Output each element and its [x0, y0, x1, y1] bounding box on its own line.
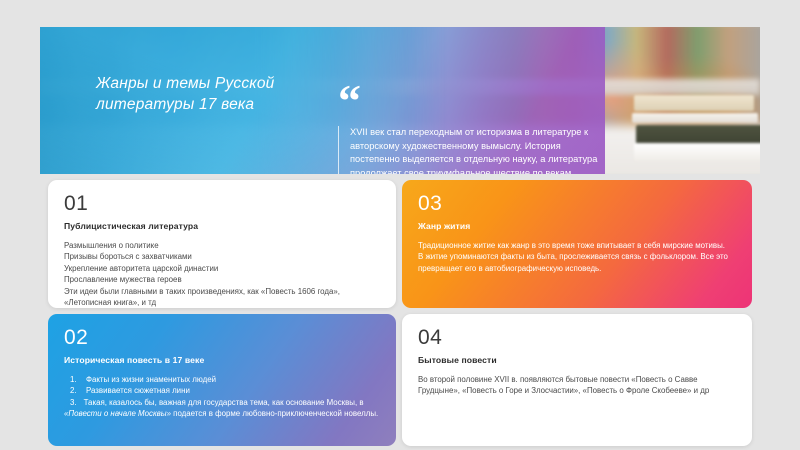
card-body-text: Традиционное житие как жанр в это время … — [418, 240, 736, 274]
content-card-02[interactable]: 02 Историческая повесть в 17 веке Факты … — [48, 314, 396, 446]
stacked-books-photo — [632, 87, 760, 157]
content-card-03[interactable]: 03 Жанр жития Традиционное житие как жан… — [402, 180, 752, 308]
card-numbered-list: Факты из жизни знаменитых людей Развивае… — [64, 374, 380, 420]
card-number: 04 — [418, 326, 736, 350]
slide-canvas: Жанры и темы Русской литературы 17 века … — [0, 0, 800, 450]
quote-mark-icon: “ — [338, 84, 600, 118]
list-item-text-suffix: подается в форме любовно-приключенческой… — [171, 409, 378, 418]
hero-quote: “ XVII век стал переходным от историзма … — [338, 84, 600, 174]
content-card-04[interactable]: 04 Бытовые повести Во второй половине XV… — [402, 314, 752, 446]
card-heading: Публицистическая литература — [64, 221, 380, 231]
card-body-text: Во второй половине XVII в. появляются бы… — [418, 374, 736, 397]
content-card-01[interactable]: 01 Публицистическая литература Размышлен… — [48, 180, 396, 308]
list-item: Такая, казалось бы, важная для государст… — [64, 397, 380, 420]
card-number: 03 — [418, 192, 736, 216]
card-body-text: Размышления о политике Призывы бороться … — [64, 240, 380, 308]
card-number: 01 — [64, 192, 380, 216]
card-number: 02 — [64, 326, 380, 350]
hero-banner: Жанры и темы Русской литературы 17 века … — [40, 27, 760, 174]
list-item: Развивается сюжетная лини — [64, 385, 380, 396]
list-item-text-italic: «Повести о начале Москвы» — [64, 409, 171, 418]
list-item-text-prefix: Такая, казалось бы, важная для государст… — [84, 398, 364, 407]
quote-text: XVII век стал переходным от историзма в … — [338, 126, 600, 174]
list-item: Факты из жизни знаменитых людей — [64, 374, 380, 385]
page-title: Жанры и темы Русской литературы 17 века — [96, 73, 286, 115]
card-heading: Историческая повесть в 17 веке — [64, 355, 380, 365]
card-heading: Бытовые повести — [418, 355, 736, 365]
card-heading: Жанр жития — [418, 221, 736, 231]
